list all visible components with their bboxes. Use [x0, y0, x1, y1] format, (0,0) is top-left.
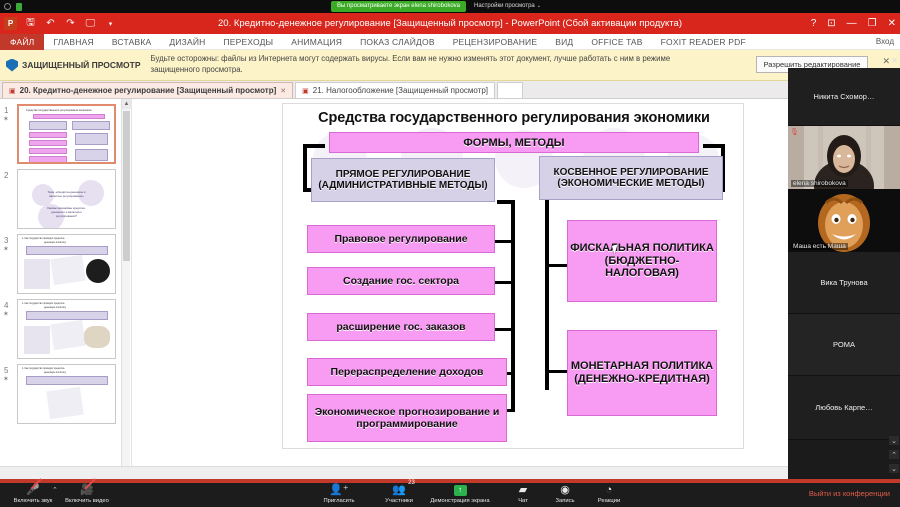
invite-button[interactable]: 👤⁺ Пригласить: [310, 484, 368, 504]
help-button[interactable]: ?: [811, 18, 817, 29]
close-icon[interactable]: ✕: [891, 56, 898, 65]
view-options-button[interactable]: Настройки просмотра⌄: [474, 1, 541, 12]
minimize-button[interactable]: —: [847, 18, 857, 29]
thumb-head-1: 1. Как государство проводит кредитно-: [22, 302, 65, 305]
slide-number: 3: [4, 234, 17, 245]
left-item-legal-regulation[interactable]: Правовое регулирование: [307, 225, 495, 253]
thumb-head-2: денежную политику: [44, 371, 66, 374]
undo-icon[interactable]: ↶: [44, 17, 57, 30]
close-icon[interactable]: ✕: [882, 56, 890, 67]
window-title: 20. Кредитно-денежное регулирование [Защ…: [0, 18, 900, 29]
tab-animations[interactable]: АНИМАЦИЯ: [282, 37, 351, 47]
connector-right-top: [703, 144, 725, 148]
document-tabs: ▣ 20. Кредитно-денежное регулирование [З…: [0, 81, 900, 99]
connector-right-spine: [545, 200, 549, 390]
reactions-label: Реакции: [598, 498, 620, 504]
tab-home[interactable]: ГЛАВНАЯ: [44, 37, 102, 47]
left-item-income-redistribution[interactable]: Перераспределение доходов: [307, 358, 507, 386]
slide-stage: Средства государственного регулирования …: [132, 99, 900, 479]
thumb-head-2: денежную политику: [44, 241, 66, 244]
tab-design[interactable]: ДИЗАЙН: [160, 37, 214, 47]
participant-tile-nikita[interactable]: Никита Схомор…: [788, 68, 900, 126]
left-item-state-sector[interactable]: Создание гос. сектора: [307, 267, 495, 295]
ribbon: ФАЙЛ ГЛАВНАЯ ВСТАВКА ДИЗАЙН ПЕРЕХОДЫ АНИ…: [0, 34, 900, 50]
thumb-head-2: денежную политику: [44, 306, 66, 309]
tab-view[interactable]: ВИД: [546, 37, 582, 47]
invite-label: Пригласить: [323, 498, 354, 504]
tab-foxit-reader-pdf[interactable]: FOXIT READER PDF: [652, 37, 755, 47]
connector-left-top: [303, 144, 325, 148]
doc-tab-label: 20. Кредитно-денежное регулирование [Защ…: [20, 86, 277, 95]
left-item-state-orders[interactable]: расширение гос. заказов: [307, 313, 495, 341]
presentation-icon: ▣: [302, 87, 309, 95]
thumb-head-1: 1. Как государство проводит кредитно-: [22, 367, 65, 370]
participant-tile-elena[interactable]: 🎙 elena shirobokova: [788, 126, 900, 189]
tab-transitions[interactable]: ПЕРЕХОДЫ: [214, 37, 282, 47]
view-options-label: Настройки просмотра: [474, 3, 535, 9]
protected-view-bar: ЗАЩИЩЕННЫЙ ПРОСМОТР Будьте осторожны: фа…: [0, 50, 900, 81]
new-doc-tab-button[interactable]: [497, 82, 523, 98]
slide-number: 5: [4, 364, 17, 375]
forms-methods-banner[interactable]: ФОРМЫ, МЕТОДЫ: [329, 132, 699, 153]
animation-star-icon: ✶: [3, 245, 9, 253]
thumbnail-slide-4[interactable]: 4 ✶ 1. Как государство проводит кредитно…: [0, 294, 131, 359]
lock-icon[interactable]: [16, 3, 22, 11]
animation-star-icon: ✶: [3, 375, 9, 383]
tab-review[interactable]: РЕЦЕНЗИРОВАНИЕ: [444, 37, 547, 47]
thumbnail-slide-1[interactable]: 1 ✶ Средства государственного регулирова…: [0, 99, 131, 164]
participants-icon: 👥23: [392, 484, 406, 496]
thumbnail-canvas: Средства государственного регулирования …: [17, 104, 116, 164]
powerpoint-title-bar: P 🖫 ↶ ↷ 🖵 ▾ 20. Кредитно-денежное регули…: [0, 13, 900, 34]
scrollbar-thumb[interactable]: [123, 111, 130, 261]
slide-number: 1: [4, 104, 17, 115]
start-video-button[interactable]: 🎥 Включить видео: [58, 484, 116, 504]
participant-name: elena shirobokova: [791, 180, 848, 187]
share-screen-label: Демонстрация экрана: [430, 498, 489, 504]
participant-name: Вика Трунова: [820, 278, 867, 287]
toolbar-accent-line: [0, 479, 900, 483]
doc-tab-credit-regulation[interactable]: ▣ 20. Кредитно-денежное регулирование [З…: [2, 82, 293, 98]
thumbnail-slide-3[interactable]: 3 ✶ 1. Как государство проводит кредитно…: [0, 229, 131, 294]
participant-name: Никита Схомор…: [814, 92, 875, 101]
left-item-forecasting[interactable]: Экономическое прогнозирование и программ…: [307, 394, 507, 442]
save-icon[interactable]: 🖫: [24, 17, 37, 30]
connector-left-3: [495, 328, 515, 331]
ribbon-tabs: ФАЙЛ ГЛАВНАЯ ВСТАВКА ДИЗАЙН ПЕРЕХОДЫ АНИ…: [0, 34, 900, 50]
protected-view-title: ЗАЩИЩЕННЫЙ ПРОСМОТР: [22, 60, 141, 70]
tab-insert[interactable]: ВСТАВКА: [103, 37, 161, 47]
presentation-icon: ▣: [9, 87, 16, 95]
connector-right-2: [545, 370, 567, 373]
start-slideshow-icon[interactable]: 🖵: [84, 17, 97, 30]
connector-right-1: [545, 264, 567, 267]
panel-scroll-down-button[interactable]: ⌄: [889, 464, 899, 473]
connector-left-spine: [511, 200, 515, 412]
close-button[interactable]: ✕: [888, 18, 896, 29]
indirect-regulation-box[interactable]: КОСВЕННОЕ РЕГУЛИРОВАНИЕ (ЭКОНОМИЧЕСКИЕ М…: [539, 156, 723, 200]
share-screen-button[interactable]: ↑ Демонстрация экрана: [420, 484, 500, 504]
participant-name: Любовь Карпе…: [815, 403, 872, 412]
panel-collapse-button[interactable]: ⌄: [889, 436, 899, 445]
tab-file[interactable]: ФАЙЛ: [0, 34, 44, 50]
participants-label: Участники: [385, 498, 413, 504]
reactions-icon: ◔: [606, 484, 613, 496]
participants-video-panel: ✕ Никита Схомор… 🎙 elena shirobokova: [788, 68, 900, 479]
thumbnail-canvas: 1. Как государство проводит кредитно- де…: [17, 364, 116, 424]
thumb-line-2: валютное регулирование»: [18, 194, 115, 198]
powerpoint-logo: P: [4, 17, 17, 30]
scroll-up-button[interactable]: ▲: [122, 99, 131, 109]
connector-left-spine-top: [497, 200, 515, 204]
quick-access-toolbar: P 🖫 ↶ ↷ 🖵 ▾: [0, 17, 117, 30]
animation-star-icon: ✶: [3, 310, 9, 318]
participant-tile-masha[interactable]: Маша есть Маша: [788, 189, 900, 252]
chevron-down-icon: ⌄: [537, 3, 541, 9]
doc-tab-label: 21. Налогообложение [Защищенный просмотр…: [313, 86, 488, 95]
protected-view-message: Будьте осторожны: файлы из Интернета мог…: [151, 54, 671, 75]
microphone-muted-icon: 🎤: [26, 484, 40, 496]
thumbnail-canvas: 1. Как государство проводит кредитно- де…: [17, 299, 116, 359]
close-icon[interactable]: ✕: [280, 87, 286, 95]
zoom-topbar-left-icons: [0, 3, 22, 11]
thumbnail-canvas: 1. Как государство проводит кредитно- де…: [17, 234, 116, 294]
powerpoint-window: P 🖫 ↶ ↷ 🖵 ▾ 20. Кредитно-денежное регули…: [0, 13, 900, 479]
zoom-screenshare-topbar: Вы просматриваете экран elena shirobokov…: [0, 0, 900, 13]
participant-name: РОМА: [833, 340, 855, 349]
microphone-muted-icon: 🎙: [790, 128, 799, 136]
start-video-label: Включить видео: [65, 498, 109, 504]
thumbnail-slide-5[interactable]: 5 ✶ 1. Как государство проводит кредитно…: [0, 359, 131, 424]
reactions-button[interactable]: ◔ Реакции: [580, 484, 638, 504]
record-circle-icon: ◉: [560, 484, 570, 496]
slide-canvas[interactable]: Средства государственного регулирования …: [282, 103, 744, 449]
share-screen-icon: ↑: [454, 484, 467, 496]
participants-count: 23: [408, 480, 415, 486]
restore-button[interactable]: ❐: [868, 18, 877, 29]
customize-qat-icon[interactable]: ▾: [104, 17, 117, 30]
audio-options-chevron-icon[interactable]: ⌃: [52, 486, 58, 494]
tab-office-tab[interactable]: OFFICE TAB: [582, 37, 651, 47]
direct-regulation-box[interactable]: ПРЯМОЕ РЕГУЛИРОВАНИЕ (АДМИНИСТРАТИВНЫЕ М…: [311, 158, 495, 202]
screenshare-banner: Вы просматриваете экран elena shirobokov…: [331, 1, 466, 12]
video-muted-icon: 🎥: [80, 484, 94, 496]
connector-left-2: [495, 281, 515, 284]
ribbon-display-options-button[interactable]: ⊡: [827, 18, 835, 29]
thumb-head-1: 1. Как государство проводит кредитно-: [22, 237, 65, 240]
participant-tile-roma[interactable]: РОМА: [788, 314, 900, 376]
participant-tile-lyubov[interactable]: Любовь Карпе…: [788, 376, 900, 440]
chat-label: Чат: [518, 498, 528, 504]
connector-left-1: [495, 240, 515, 243]
leave-meeting-button[interactable]: Выйти из конференции: [809, 489, 890, 498]
sign-in-link[interactable]: Вход: [876, 37, 894, 46]
unmute-label: Включить звук: [14, 498, 53, 504]
status-bar: [0, 466, 900, 479]
panel-expand-button[interactable]: ⌃: [889, 450, 899, 459]
thumbnail-scrollbar[interactable]: ▲ ▼: [121, 99, 130, 479]
participant-name: Маша есть Маша: [791, 243, 848, 250]
editor-body: 1 ✶ Средства государственного регулирова…: [0, 99, 900, 479]
tab-slideshow[interactable]: ПОКАЗ СЛАЙДОВ: [351, 37, 444, 47]
thumbnail-canvas: Тема: «Кредитно-денежное и валютное регу…: [17, 169, 116, 229]
right-item-fiscal-policy[interactable]: ФИСКАЛЬНАЯ ПОЛИТИКА (БЮДЖЕТНО-НАЛОГОВАЯ): [567, 220, 717, 302]
thumbnail-slide-2[interactable]: 2 Тема: «Кредитно-денежное и валютное ре…: [0, 164, 131, 229]
participant-tile-vika[interactable]: Вика Трунова: [788, 252, 900, 314]
right-item-monetary-policy[interactable]: МОНЕТАРНАЯ ПОЛИТИКА (ДЕНЕЖНО-КРЕДИТНАЯ): [567, 330, 717, 416]
record-icon[interactable]: [4, 3, 11, 10]
screen: Вы просматриваете экран elena shirobokov…: [0, 0, 900, 507]
record-label: Запись: [555, 498, 574, 504]
shield-icon: [6, 59, 18, 72]
slide-number: 2: [4, 169, 17, 180]
connector-left-vertical: [303, 144, 307, 192]
animation-star-icon: ✶: [3, 115, 9, 123]
panel-controls: ⌄ ⌃ ⌄: [889, 436, 899, 473]
thumb-line-5: регулирования?: [18, 214, 115, 218]
slide-number: 4: [4, 299, 17, 310]
doc-tab-taxation[interactable]: ▣ 21. Налогообложение [Защищенный просмо…: [295, 82, 495, 98]
zoom-meeting-toolbar: 🎤 Включить звук ⌃ 🎥 Включить видео 👤⁺ Пр…: [0, 479, 900, 507]
slide-title: Средства государственного регулирования …: [299, 110, 729, 126]
redo-icon[interactable]: ↷: [64, 17, 77, 30]
slide-thumbnail-pane[interactable]: 1 ✶ Средства государственного регулирова…: [0, 99, 132, 479]
invite-person-icon: 👤⁺: [329, 484, 349, 496]
chat-bubble-icon: ▰: [519, 484, 527, 496]
window-controls: ? ⊡ — ❐ ✕: [811, 13, 896, 34]
